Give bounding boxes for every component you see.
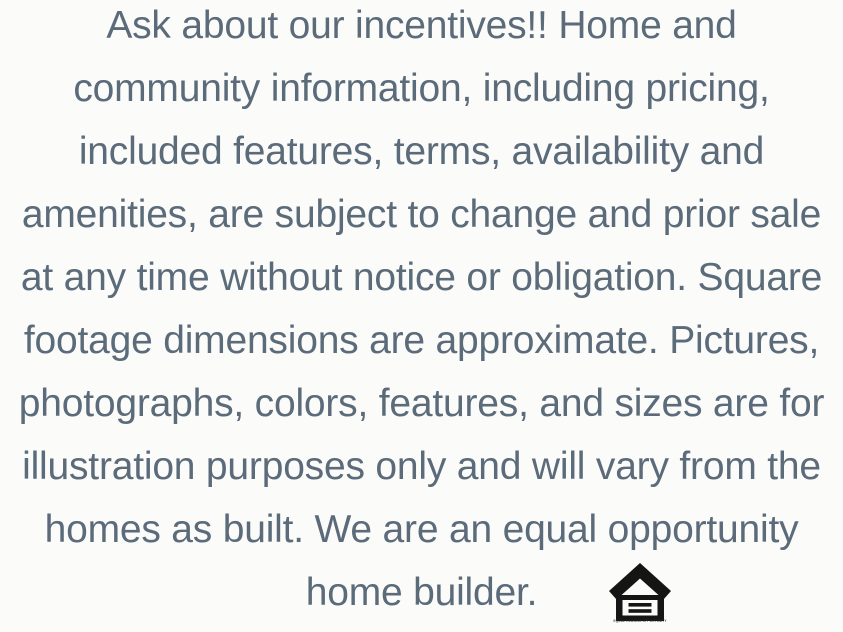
equal-housing-opportunity-icon: EQUAL HOUSING OPPORTUNITY [607, 560, 673, 632]
disclaimer-line-6: footage dimensions are approximate. Pict… [0, 309, 843, 372]
equal-housing-microtext: EQUAL HOUSING OPPORTUNITY [607, 619, 673, 632]
disclaimer-line-1: Ask about our incentives!! Home and [0, 0, 843, 57]
disclaimer-line-9: homes as built. We are an equal opportun… [0, 498, 843, 561]
disclaimer-last-line-row: home builder. [0, 561, 843, 624]
disclaimer-viewport: Ask about our incentives!! Home and comm… [0, 0, 843, 632]
disclaimer-line-3: included features, terms, availability a… [0, 120, 843, 183]
disclaimer-line-7: photographs, colors, features, and sizes… [0, 372, 843, 435]
disclaimer-line-2: community information, including pricing… [0, 57, 843, 120]
disclaimer-text-block: Ask about our incentives!! Home and comm… [0, 0, 843, 624]
disclaimer-line-5: at any time without notice or obligation… [0, 246, 843, 309]
disclaimer-line-10: home builder. [306, 561, 538, 624]
disclaimer-line-4: amenities, are subject to change and pri… [0, 183, 843, 246]
disclaimer-line-8: illustration purposes only and will vary… [0, 435, 843, 498]
